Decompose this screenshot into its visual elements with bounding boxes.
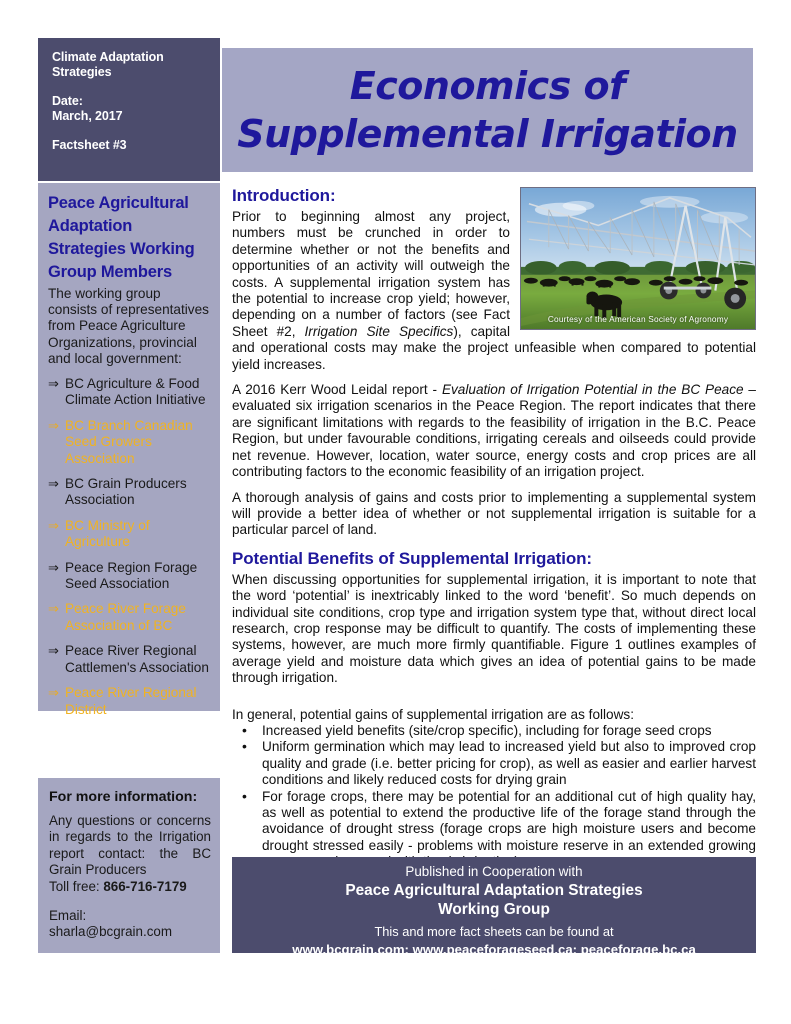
sidebar-member-item: ⇒ BC Grain Producers Association: [48, 476, 212, 509]
intro-text-italic: Irrigation Site Specifics: [305, 324, 454, 339]
sidebar-member-label: BC Agriculture & Food Climate Action Ini…: [65, 376, 212, 409]
introduction-paragraph-3: A thorough analysis of gains and costs p…: [232, 490, 756, 539]
sidebar-member-label: Peace Region Forage Seed Association: [65, 560, 212, 593]
gains-lead-text: In general, potential gains of supplemen…: [232, 707, 756, 723]
sidebar-member-item: ⇒ Peace River Regional District: [48, 685, 212, 718]
sidebar-members-title: Peace Agricultural Adaptation Strategies…: [48, 192, 212, 284]
header-kicker-line1: Climate Adaptation: [52, 50, 220, 65]
intro-text-a: Prior to beginning almost any project, n…: [232, 209, 510, 339]
footer-panel: Published in Cooperation with Peace Agri…: [232, 857, 756, 953]
sidebar-member-label: Peace River Regional District: [65, 685, 212, 718]
footer-line-org: Peace Agricultural Adaptation Strategies: [232, 881, 756, 900]
double-arrow-icon: ⇒: [48, 518, 65, 551]
benefits-heading: Potential Benefits of Supplemental Irrig…: [232, 548, 756, 570]
sidebar-members-panel: Peace Agricultural Adaptation Strategies…: [38, 183, 220, 711]
footer-line-more: This and more fact sheets can be found a…: [232, 923, 756, 941]
contact-tollfree-label: Toll free:: [49, 879, 103, 894]
page-title-line1: Economics of: [350, 62, 625, 110]
sidebar-member-item: ⇒ BC Branch Canadian Seed Growers Associ…: [48, 418, 212, 467]
footer-line-published: Published in Cooperation with: [232, 863, 756, 881]
sidebar-member-item: ⇒ Peace Region Forage Seed Association: [48, 560, 212, 593]
contact-panel-title: For more information:: [49, 788, 211, 806]
irrigation-photo-illustration: [521, 188, 755, 329]
contact-email-label: Email:: [49, 908, 211, 924]
double-arrow-icon: ⇒: [48, 685, 65, 718]
gains-list-item: Increased yield benefits (site/crop spec…: [232, 723, 756, 739]
page-title-line2: Supplemental Irrigation: [237, 110, 737, 158]
introduction-section: Courtesy of the American Society of Agro…: [232, 185, 756, 539]
sidebar-members-intro: The working group consists of representa…: [48, 286, 212, 367]
contact-email-value[interactable]: sharla@bcgrain.com: [49, 924, 211, 940]
page-title-banner: Economics of Supplemental Irrigation: [222, 48, 753, 172]
contact-paragraph: Any questions or concerns in regards to …: [49, 813, 211, 877]
double-arrow-icon: ⇒: [48, 376, 65, 409]
sidebar-member-label: BC Grain Producers Association: [65, 476, 212, 509]
double-arrow-icon: ⇒: [48, 418, 65, 467]
introduction-paragraph-2: A 2016 Kerr Wood Leidal report - Evaluat…: [232, 382, 756, 480]
photo-caption: Courtesy of the American Society of Agro…: [521, 314, 755, 324]
contact-panel-body: Any questions or concerns in regards to …: [49, 813, 211, 941]
p2-text-italic: Evaluation of Irrigation Potential in th…: [442, 382, 744, 397]
gains-list-item: Uniform germination which may lead to in…: [232, 739, 756, 788]
sidebar-members-list: ⇒ BC Agriculture & Food Climate Action I…: [48, 376, 212, 718]
factsheet-page: Climate Adaptation Strategies Date: Marc…: [0, 0, 791, 1024]
header-date-label: Date:: [52, 94, 220, 109]
gains-list: Increased yield benefits (site/crop spec…: [232, 723, 756, 871]
contact-tollfree-number: 866-716-7179: [103, 879, 186, 894]
sidebar-member-item: ⇒ Peace River Forage Association of BC: [48, 601, 212, 634]
header-factsheet-number: Factsheet #3: [52, 138, 220, 153]
sidebar-member-label: BC Ministry of Agriculture: [65, 518, 212, 551]
p2-text-a: A 2016 Kerr Wood Leidal report -: [232, 382, 442, 397]
sidebar-member-label: BC Branch Canadian Seed Growers Associat…: [65, 418, 212, 467]
sidebar-member-item: ⇒ BC Agriculture & Food Climate Action I…: [48, 376, 212, 409]
double-arrow-icon: ⇒: [48, 476, 65, 509]
sidebar-contact-panel: For more information: Any questions or c…: [38, 778, 220, 953]
benefits-paragraph: When discussing opportunities for supple…: [232, 572, 756, 687]
header-kicker-line2: Strategies: [52, 65, 220, 80]
double-arrow-icon: ⇒: [48, 560, 65, 593]
sidebar-member-label: Peace River Regional Cattlemen's Associa…: [65, 643, 212, 676]
sidebar-member-item: ⇒ Peace River Regional Cattlemen's Assoc…: [48, 643, 212, 676]
double-arrow-icon: ⇒: [48, 601, 65, 634]
sidebar-member-item: ⇒ BC Ministry of Agriculture: [48, 518, 212, 551]
sidebar-member-label: Peace River Forage Association of BC: [65, 601, 212, 634]
irrigation-photo: Courtesy of the American Society of Agro…: [520, 187, 756, 330]
header-date-value: March, 2017: [52, 109, 220, 124]
footer-urls[interactable]: www.bcgrain.com; www.peaceforageseed.ca;…: [232, 941, 756, 958]
double-arrow-icon: ⇒: [48, 643, 65, 676]
main-content: Courtesy of the American Society of Agro…: [232, 185, 756, 871]
header-meta-panel: Climate Adaptation Strategies Date: Marc…: [38, 38, 220, 181]
contact-tollfree-row: Toll free: 866-716-7179: [49, 879, 211, 895]
footer-line-org2: Working Group: [232, 900, 756, 919]
